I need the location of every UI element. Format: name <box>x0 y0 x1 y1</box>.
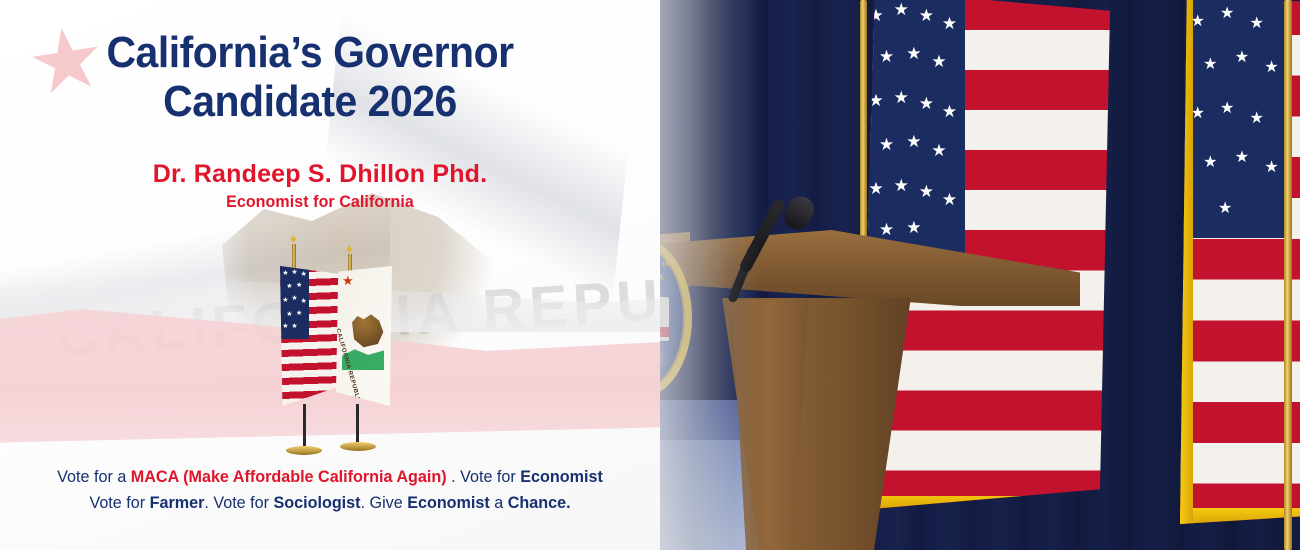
slogan-chance: Chance. <box>508 493 571 512</box>
star-icon: ★ <box>931 53 946 70</box>
star-icon: ★ <box>879 221 894 238</box>
desk-us-canton: ★ ★ ★ ★ ★ ★ ★ ★ ★ ★ ★ ★ <box>280 266 309 339</box>
headline-line-2: Candidate 2026 <box>22 77 599 126</box>
slogan-l2-p1: Vote for <box>89 493 149 512</box>
ca-star-icon: ★ <box>342 274 354 287</box>
star-icon: ★ <box>894 177 909 194</box>
slogan-l2-p4: a <box>490 493 508 512</box>
star-icon: ★ <box>1235 150 1249 166</box>
star-icon: ★ <box>942 15 957 32</box>
desk-ca-flag: ★ CALIFORNIA REPUBLIC <box>336 266 392 406</box>
slogan-l2-p2: . Vote for <box>204 493 273 512</box>
flag-pole-right <box>1284 0 1292 550</box>
star-icon: ★ <box>301 271 307 278</box>
campaign-banner: ★ ★ ★ ★ ★ ★ ★ ★ ★ ★ ★ ★ ★ ★ ★ ★ ★ ★ ★ ★ <box>0 0 1300 550</box>
star-icon: ★ <box>291 323 297 330</box>
ca-bear-icon <box>350 308 384 348</box>
star-icon: ★ <box>906 133 921 150</box>
slogan-farmer: Farmer <box>150 493 205 512</box>
candidate-subtitle: Economist for California <box>19 192 621 212</box>
slogan-l1-part1: Vote for a <box>57 467 131 486</box>
slogan-l2-economist: Economist <box>407 493 490 512</box>
star-icon: ★ <box>1220 101 1234 117</box>
star-icon: ★ <box>1235 50 1249 66</box>
star-icon: ★ <box>879 48 894 65</box>
slogan-maca: MACA (Make Affordable California Again) <box>131 467 447 486</box>
star-icon: ★ <box>894 1 909 18</box>
desk-flag-stem-ca <box>356 404 359 444</box>
us-flag-canton: ★ ★ ★ ★ ★ ★ ★ ★ ★ ★ ★ ★ ★ ★ ★ ★ ★ ★ ★ ★ <box>860 0 965 266</box>
desk-flag-base-us <box>286 446 322 455</box>
desk-flag-stem-us <box>303 404 306 448</box>
slogan-sociologist: Sociologist <box>273 493 360 512</box>
star-icon: ★ <box>1264 60 1278 76</box>
candidate-name: Dr. Randeep S. Dhillon Phd. <box>0 160 640 189</box>
slogan-l1-part2: . Vote for <box>447 467 521 486</box>
star-icon: ★ <box>1218 201 1232 217</box>
star-icon: ★ <box>919 183 934 200</box>
star-icon: ★ <box>1203 155 1217 171</box>
star-icon: ★ <box>1220 6 1234 22</box>
star-icon: ★ <box>301 298 307 305</box>
star-icon: ★ <box>931 142 946 159</box>
desk-us-flag: ★ ★ ★ ★ ★ ★ ★ ★ ★ ★ ★ ★ <box>280 266 342 406</box>
star-icon: ★ <box>291 295 297 302</box>
star-icon: ★ <box>868 180 883 197</box>
star-icon: ★ <box>906 219 921 236</box>
star-icon: ★ <box>919 95 934 112</box>
star-icon: ★ <box>296 282 302 289</box>
star-icon: ★ <box>906 45 921 62</box>
left-content-panel: ★ CALIFORNIA REPUBLIC ♦ ♦ ★ ★ ★ ★ ★ ★ ★ <box>0 0 660 550</box>
slogan-line-2: Vote for Farmer. Vote for Sociologist. G… <box>17 490 644 516</box>
star-icon: ★ <box>296 310 302 317</box>
star-icon: ★ <box>282 323 288 330</box>
page-title: California’s Governor Candidate 2026 <box>22 28 599 127</box>
star-icon: ★ <box>286 283 292 290</box>
slogan-line-1: Vote for a MACA (Make Affordable Califor… <box>17 464 644 490</box>
podium-photo: ★ ★ ★ ★ ★ ★ ★ ★ ★ ★ ★ ★ ★ ★ ★ ★ ★ ★ ★ ★ <box>560 0 1300 550</box>
star-icon: ★ <box>1264 160 1278 176</box>
star-icon: ★ <box>282 270 288 277</box>
star-icon: ★ <box>1250 16 1264 32</box>
star-icon: ★ <box>942 191 957 208</box>
star-icon: ★ <box>291 269 297 276</box>
us-flag-right: ★ ★ ★ ★ ★ ★ ★ ★ ★ ★ ★ ★ ★ <box>1180 0 1300 524</box>
headline-line-1: California’s Governor <box>22 28 599 77</box>
campaign-slogan: Vote for a MACA (Make Affordable Califor… <box>17 464 644 517</box>
star-icon: ★ <box>1250 111 1264 127</box>
star-icon: ★ <box>894 89 909 106</box>
star-icon: ★ <box>879 136 894 153</box>
slogan-l1-economist: Economist <box>520 467 603 486</box>
star-icon: ★ <box>1203 57 1217 73</box>
star-icon: ★ <box>942 103 957 120</box>
desk-flag-base-ca <box>340 442 376 451</box>
slogan-l2-p3: . Give <box>361 493 408 512</box>
star-icon: ★ <box>286 311 292 318</box>
desk-flag-pair: ♦ ♦ ★ ★ ★ ★ ★ ★ ★ ★ ★ ★ ★ ★ <box>258 232 398 460</box>
star-icon: ★ <box>282 297 288 304</box>
us-flag-canton: ★ ★ ★ ★ ★ ★ ★ ★ ★ ★ ★ ★ ★ <box>1180 0 1285 238</box>
star-icon: ★ <box>919 7 934 24</box>
